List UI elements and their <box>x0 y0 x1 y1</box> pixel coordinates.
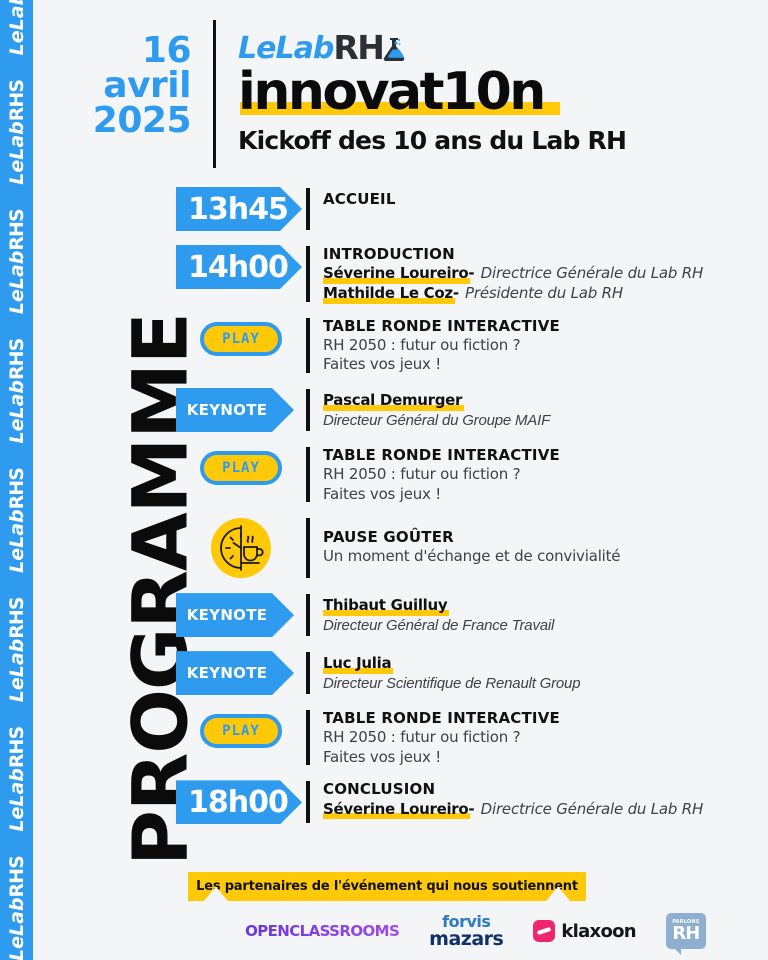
row-divider <box>306 318 310 373</box>
flask-icon <box>379 34 409 64</box>
partners-footer: Les partenaires de l'événement qui nous … <box>33 872 768 952</box>
schedule-row: 14h00 INTRODUCTION Séverine Loureiro-Dir… <box>176 244 768 304</box>
sidebar-repeated-logo: LeLabRHS LeLabRHS LeLabRHS LeLabRHS LeLa… <box>6 0 28 960</box>
event-title: innovat10n <box>238 66 544 119</box>
speaker-line: Séverine Loureiro-Directrice Générale du… <box>323 800 768 820</box>
sidebar-logo-1: LeLabRHS <box>6 856 28 960</box>
partner-logo-forvis-mazars[interactable]: forvis mazars <box>429 914 503 947</box>
row-content: TABLE RONDE INTERACTIVE RH 2050 : futur … <box>323 445 768 504</box>
row-content: Pascal Demurger Directeur Général du Gro… <box>323 387 768 430</box>
speaker-role: Directeur Général de France Travail <box>323 616 768 636</box>
time-badge[interactable]: 18h00 <box>176 780 302 824</box>
sidebar-logo-2: LeLabRHS <box>6 727 28 832</box>
schedule-row: KEYNOTE Pascal Demurger Directeur Généra… <box>176 387 768 433</box>
sidebar-logo-8: LeLabRHS <box>6 0 28 55</box>
sidebar-brand-strip: LeLabRHS LeLabRHS LeLabRHS LeLabRHS LeLa… <box>0 0 33 960</box>
badge-column: 18h00 <box>176 779 306 825</box>
partner-logo-parlons-rh[interactable]: PARLONS RH <box>666 913 706 949</box>
event-title-wrap: innovat10n <box>238 66 544 119</box>
row-divider <box>306 188 310 230</box>
badge-column: KEYNOTE <box>176 387 306 433</box>
row-content: ACCUEIL <box>323 186 768 209</box>
speaker-role: Directrice Générale du Lab RH <box>481 264 703 282</box>
schedule-list: 13h45 ACCUEIL 14h00 INTRODUCTION Séverin… <box>176 186 768 837</box>
speaker-line: Pascal Demurger <box>323 391 768 411</box>
sidebar-logo-6: LeLabRHS <box>6 209 28 314</box>
session-sub-line: Faites vos jeux ! <box>323 355 768 375</box>
session-heading: TABLE RONDE INTERACTIVE <box>323 709 768 728</box>
event-subtitle: Kickoff des 10 ans du Lab RH <box>238 126 626 155</box>
partner-logo-klaxoon[interactable]: klaxoon <box>533 920 636 942</box>
time-badge[interactable]: 13h45 <box>176 187 302 231</box>
badge-column: 13h45 <box>176 186 306 232</box>
schedule-row: 13h45 ACCUEIL <box>176 186 768 232</box>
partner-logos: OPENCLASSROOMS forvis mazars klaxoon PAR… <box>33 910 768 952</box>
badge-column <box>176 516 306 580</box>
badge-column: PLAY <box>176 445 306 491</box>
speaker-name: Pascal Demurger <box>323 391 462 411</box>
schedule-row: KEYNOTE Luc Julia Directeur Scientifique… <box>176 650 768 696</box>
header-title-block: LeLab RH innovat10n Kickoff des 10 ans d… <box>216 14 626 155</box>
row-content: PAUSE GOÛTER Un moment d'échange et de c… <box>323 516 768 567</box>
badge-column: 14h00 <box>176 244 306 290</box>
speaker-role: Directeur Scientifique de Renault Group <box>323 674 768 694</box>
klaxoon-word: klaxoon <box>561 921 636 942</box>
session-heading: TABLE RONDE INTERACTIVE <box>323 446 768 465</box>
session-heading: INTRODUCTION <box>323 245 768 264</box>
play-badge[interactable]: PLAY <box>200 714 282 748</box>
sidebar-logo-4: LeLabRHS <box>6 468 28 573</box>
row-content: Thibaut Guilluy Directeur Général de Fra… <box>323 592 768 635</box>
badge-column: KEYNOTE <box>176 650 306 696</box>
session-sub-line: Faites vos jeux ! <box>323 485 768 505</box>
session-heading: CONCLUSION <box>323 780 768 799</box>
row-content: TABLE RONDE INTERACTIVE RH 2050 : futur … <box>323 708 768 767</box>
row-divider <box>306 518 310 578</box>
session-heading: TABLE RONDE INTERACTIVE <box>323 317 768 336</box>
lelabrh-logo-rh: RH <box>333 31 383 64</box>
session-sub-line: Faites vos jeux ! <box>323 748 768 768</box>
session-sub-line: RH 2050 : futur ou fiction ? <box>323 465 768 485</box>
keynote-badge[interactable]: KEYNOTE <box>176 593 294 637</box>
lelabrh-logo: LeLab RH <box>238 30 626 64</box>
sidebar-logo-3: LeLabRHS <box>6 598 28 703</box>
partner-logo-openclassrooms[interactable]: OPENCLASSROOMS <box>245 922 399 940</box>
lelabrh-logo-lelab: LeLab <box>238 34 333 64</box>
session-heading: ACCUEIL <box>323 190 768 209</box>
sidebar-logo-7: LeLabRHS <box>6 80 28 185</box>
badge-column: KEYNOTE <box>176 592 306 638</box>
row-content: Luc Julia Directeur Scientifique de Rena… <box>323 650 768 693</box>
schedule-row: PLAY TABLE RONDE INTERACTIVE RH 2050 : f… <box>176 445 768 504</box>
row-divider <box>306 246 310 302</box>
event-date-day: 16 <box>33 34 191 69</box>
speaker-role: Directeur Général du Groupe MAIF <box>323 411 768 431</box>
session-sub-line: RH 2050 : futur ou fiction ? <box>323 336 768 356</box>
klaxoon-mark-icon <box>533 920 555 942</box>
row-divider <box>306 389 310 431</box>
speaker-line: Thibaut Guilluy <box>323 596 768 616</box>
play-badge[interactable]: PLAY <box>200 322 282 356</box>
speaker-line: Mathilde Le Coz-Présidente du Lab RH <box>323 284 768 304</box>
schedule-row: KEYNOTE Thibaut Guilluy Directeur Généra… <box>176 592 768 638</box>
keynote-badge[interactable]: KEYNOTE <box>176 651 294 695</box>
row-divider <box>306 710 310 765</box>
row-content: TABLE RONDE INTERACTIVE RH 2050 : futur … <box>323 316 768 375</box>
partners-ribbon: Les partenaires de l'événement qui nous … <box>188 872 586 901</box>
badge-column: PLAY <box>176 316 306 362</box>
row-divider <box>306 781 310 823</box>
speaker-role: Directrice Générale du Lab RH <box>481 800 703 818</box>
row-divider <box>306 652 310 694</box>
sidebar-logo-5: LeLabRHS <box>6 339 28 444</box>
session-sub-line: RH 2050 : futur ou fiction ? <box>323 728 768 748</box>
speaker-name: Luc Julia <box>323 654 391 674</box>
schedule-row: PAUSE GOÛTER Un moment d'échange et de c… <box>176 516 768 580</box>
row-content: CONCLUSION Séverine Loureiro-Directrice … <box>323 779 768 819</box>
time-badge[interactable]: 14h00 <box>176 245 302 289</box>
speaker-name: Mathilde Le Coz <box>323 284 453 304</box>
schedule-row: 18h00 CONCLUSION Séverine Loureiro-Direc… <box>176 779 768 825</box>
play-badge[interactable]: PLAY <box>200 451 282 485</box>
row-content: INTRODUCTION Séverine Loureiro-Directric… <box>323 244 768 304</box>
event-date-month: avril <box>33 69 191 104</box>
speaker-name: Thibaut Guilluy <box>323 596 447 616</box>
speaker-role: Présidente du Lab RH <box>465 284 623 302</box>
speaker-line: Luc Julia <box>323 654 768 674</box>
speaker-line: Séverine Loureiro-Directrice Générale du… <box>323 264 768 284</box>
speaker-name: Séverine Loureiro <box>323 800 468 820</box>
speaker-name: Séverine Loureiro <box>323 264 468 284</box>
event-date: 16 avril 2025 <box>33 14 213 139</box>
poster-header: 16 avril 2025 LeLab RH innovat10n Kickof… <box>33 14 768 174</box>
session-sub-line: Un moment d'échange et de convivialité <box>323 547 768 567</box>
event-date-year: 2025 <box>33 104 191 139</box>
row-divider <box>306 447 310 502</box>
clock-coffee-icon <box>211 518 271 578</box>
schedule-row: PLAY TABLE RONDE INTERACTIVE RH 2050 : f… <box>176 316 768 375</box>
parlons-rh-word: RH <box>672 925 699 943</box>
session-heading: PAUSE GOÛTER <box>323 528 768 547</box>
schedule-row: PLAY TABLE RONDE INTERACTIVE RH 2050 : f… <box>176 708 768 767</box>
keynote-badge[interactable]: KEYNOTE <box>176 388 294 432</box>
badge-column: PLAY <box>176 708 306 754</box>
mazars-word: mazars <box>429 930 503 948</box>
row-divider <box>306 594 310 636</box>
